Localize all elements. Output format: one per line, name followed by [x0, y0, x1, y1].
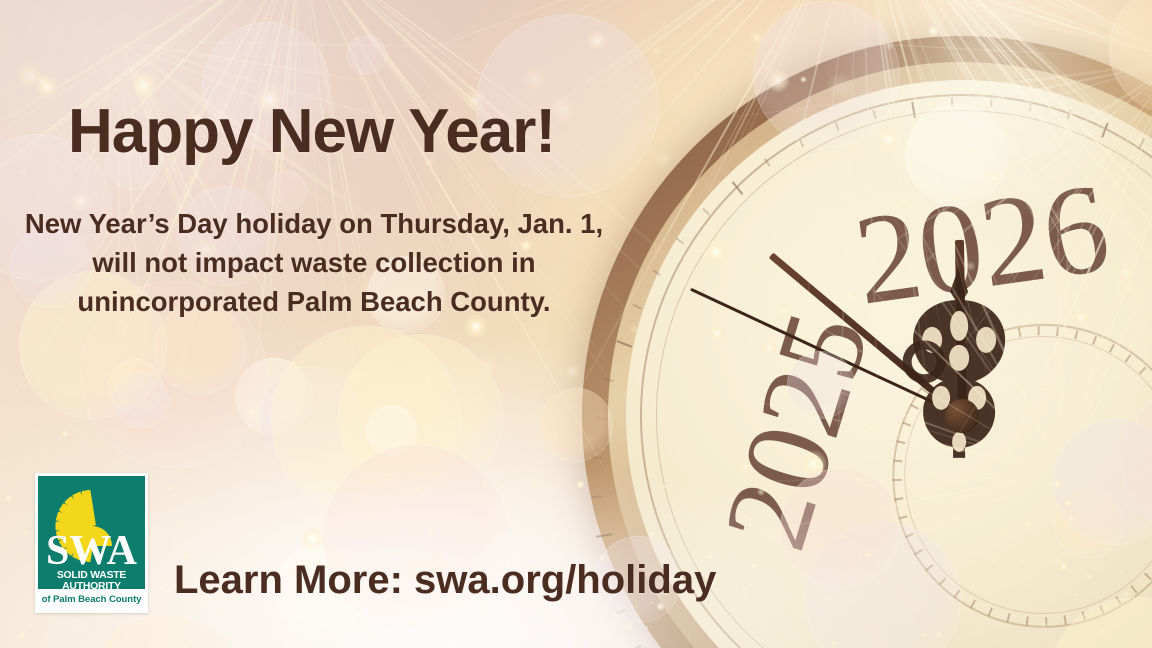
announcement-body: New Year’s Day holiday on Thursday, Jan.… — [14, 204, 614, 321]
page-title: Happy New Year! — [68, 96, 555, 167]
announcement-line-2: will not impact waste collection in — [14, 243, 614, 282]
learn-more-link[interactable]: Learn More: swa.org/holiday — [174, 558, 716, 603]
swa-logo[interactable]: SWA SOLID WASTE AUTHORITY of Palm Beach … — [35, 473, 148, 613]
swa-monogram: SWA — [38, 530, 145, 572]
swa-locality: of Palm Beach County — [38, 589, 145, 610]
new-year-announcement-graphic: 2025 2026 — [0, 0, 1152, 648]
swa-organization-name: SOLID WASTE AUTHORITY — [38, 570, 145, 589]
announcement-line-1: New Year’s Day holiday on Thursday, Jan.… — [14, 204, 614, 243]
swa-logo-panel: SWA SOLID WASTE AUTHORITY — [38, 476, 145, 589]
announcement-line-3: unincorporated Palm Beach County. — [14, 282, 614, 321]
